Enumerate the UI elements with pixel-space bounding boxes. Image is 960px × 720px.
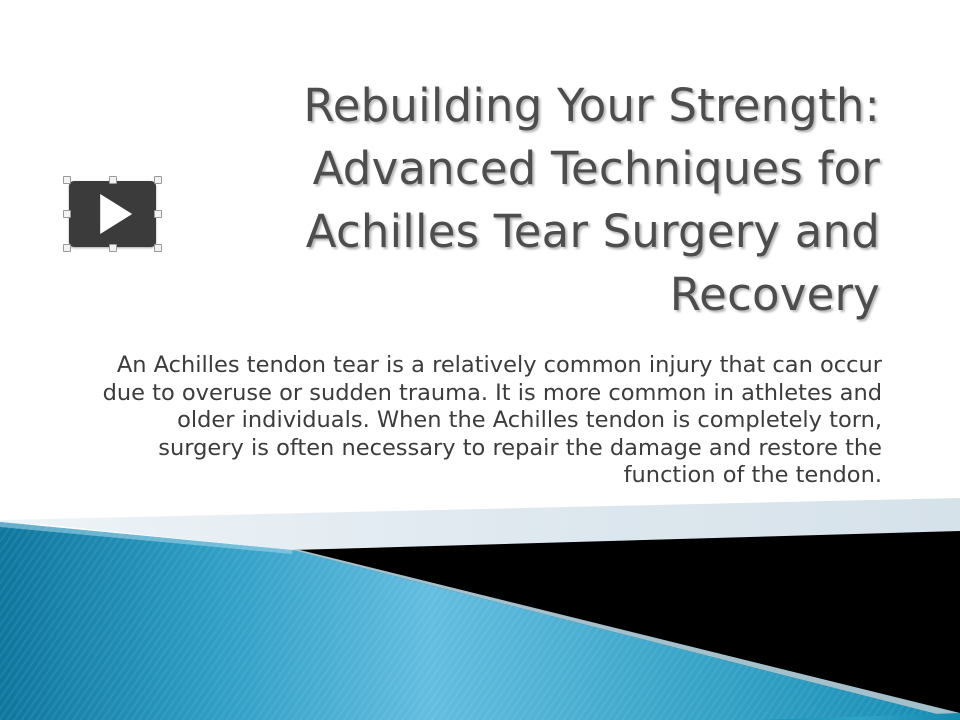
resize-handle-middle-left[interactable] [63, 210, 71, 218]
slide-canvas: Rebuilding Your Strength: Advanced Techn… [0, 0, 960, 720]
slide-title: Rebuilding Your Strength: Advanced Techn… [176, 74, 880, 326]
resize-handle-bottom-right[interactable] [154, 244, 162, 252]
slide-body-placeholder[interactable]: An Achilles tendon tear is a relatively … [88, 352, 882, 490]
resize-handle-bottom-left[interactable] [63, 244, 71, 252]
play-icon [100, 194, 132, 234]
resize-handle-top-right[interactable] [154, 176, 162, 184]
slide-title-placeholder[interactable]: Rebuilding Your Strength: Advanced Techn… [176, 74, 880, 326]
slide-body-text: An Achilles tendon tear is a relatively … [88, 352, 882, 490]
resize-handle-bottom-center[interactable] [109, 244, 117, 252]
play-button[interactable] [69, 181, 156, 247]
bottom-band-graphic [0, 498, 960, 720]
decorative-bottom-band [0, 498, 960, 720]
resize-handle-top-left[interactable] [63, 176, 71, 184]
resize-handle-middle-right[interactable] [154, 210, 162, 218]
media-play-object[interactable] [63, 176, 162, 252]
resize-handle-top-center[interactable] [109, 176, 117, 184]
